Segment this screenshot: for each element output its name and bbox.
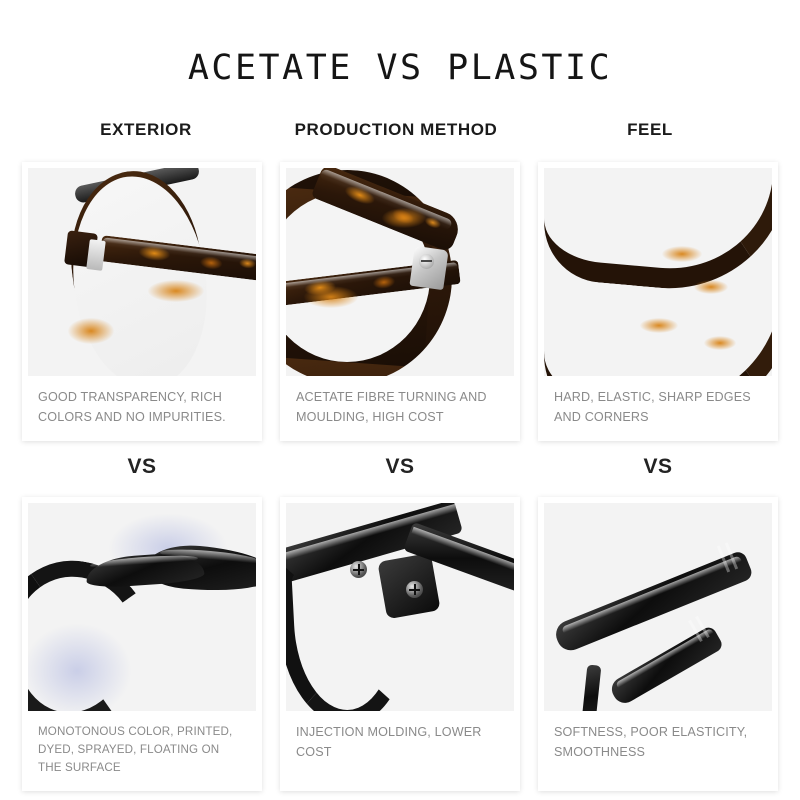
column-headers: EXTERIOR PRODUCTION METHOD FEEL	[22, 120, 778, 140]
card-plastic-exterior[interactable]: MONOTONOUS COLOR, PRINTED, DYED, SPRAYED…	[22, 497, 262, 791]
card-acetate-production-method[interactable]: ACETATE FIBRE TURNING AND MOULDING, HIGH…	[280, 162, 520, 441]
infographic-page: ACETATE VS PLASTIC EXTERIOR PRODUCTION M…	[0, 0, 800, 800]
hinge-screw	[419, 254, 434, 269]
tortoise-amber-spot	[704, 336, 736, 350]
tortoise-temple-tip-upper	[544, 168, 772, 298]
vs-separator-row: VS VS VS	[22, 455, 778, 479]
tortoise-amber-spot	[382, 208, 426, 228]
vs-label-production-method: VS	[280, 455, 520, 479]
tortoise-amber-spot	[68, 318, 114, 344]
plastic-row: MONOTONOUS COLOR, PRINTED, DYED, SPRAYED…	[22, 497, 778, 791]
photo-glossy-black-plastic-bridge-closeup	[28, 503, 256, 711]
tip-gloss-highlight	[561, 555, 742, 635]
photo-tortoiseshell-acetate-hinge-closeup	[286, 168, 514, 376]
tortoise-amber-spot	[694, 280, 728, 294]
hinge-screw	[350, 561, 367, 578]
card-acetate-exterior[interactable]: GOOD TRANSPARENCY, RICH COLORS AND NO IM…	[22, 162, 262, 441]
card-caption: INJECTION MOLDING, LOWER COST	[286, 711, 514, 776]
hinge-screw	[406, 581, 423, 598]
column-header-feel: FEEL	[522, 120, 778, 140]
column-header-production-method: PRODUCTION METHOD	[270, 120, 522, 140]
card-plastic-production-method[interactable]: INJECTION MOLDING, LOWER COST	[280, 497, 520, 791]
photo-black-plastic-temple-tips	[544, 503, 772, 711]
page-title: ACETATE VS PLASTIC	[0, 48, 800, 88]
acetate-row: GOOD TRANSPARENCY, RICH COLORS AND NO IM…	[22, 162, 778, 441]
card-caption: MONOTONOUS COLOR, PRINTED, DYED, SPRAYED…	[28, 711, 256, 791]
card-plastic-feel[interactable]: SOFTNESS, POOR ELASTICITY, SMOOTHNESS	[538, 497, 778, 791]
card-caption: GOOD TRANSPARENCY, RICH COLORS AND NO IM…	[28, 376, 256, 441]
tortoise-amber-spot	[148, 280, 204, 302]
tortoise-amber-spot	[304, 286, 358, 308]
photo-tortoiseshell-acetate-temple-tips	[544, 168, 772, 376]
card-caption: HARD, ELASTIC, SHARP EDGES AND CORNERS	[544, 376, 772, 441]
vs-label-exterior: VS	[22, 455, 262, 479]
photo-tortoiseshell-acetate-frame-front-closeup	[28, 168, 256, 376]
card-caption: SOFTNESS, POOR ELASTICITY, SMOOTHNESS	[544, 711, 772, 776]
tortoise-amber-spot	[662, 246, 702, 262]
photo-black-plastic-hinge-with-screws	[286, 503, 514, 711]
card-acetate-feel[interactable]: HARD, ELASTIC, SHARP EDGES AND CORNERS	[538, 162, 778, 441]
vs-label-feel: VS	[538, 455, 778, 479]
tortoise-amber-spot	[640, 318, 678, 333]
plastic-temple-stem	[581, 664, 602, 711]
card-caption: ACETATE FIBRE TURNING AND MOULDING, HIGH…	[286, 376, 514, 441]
column-header-exterior: EXTERIOR	[22, 120, 270, 140]
